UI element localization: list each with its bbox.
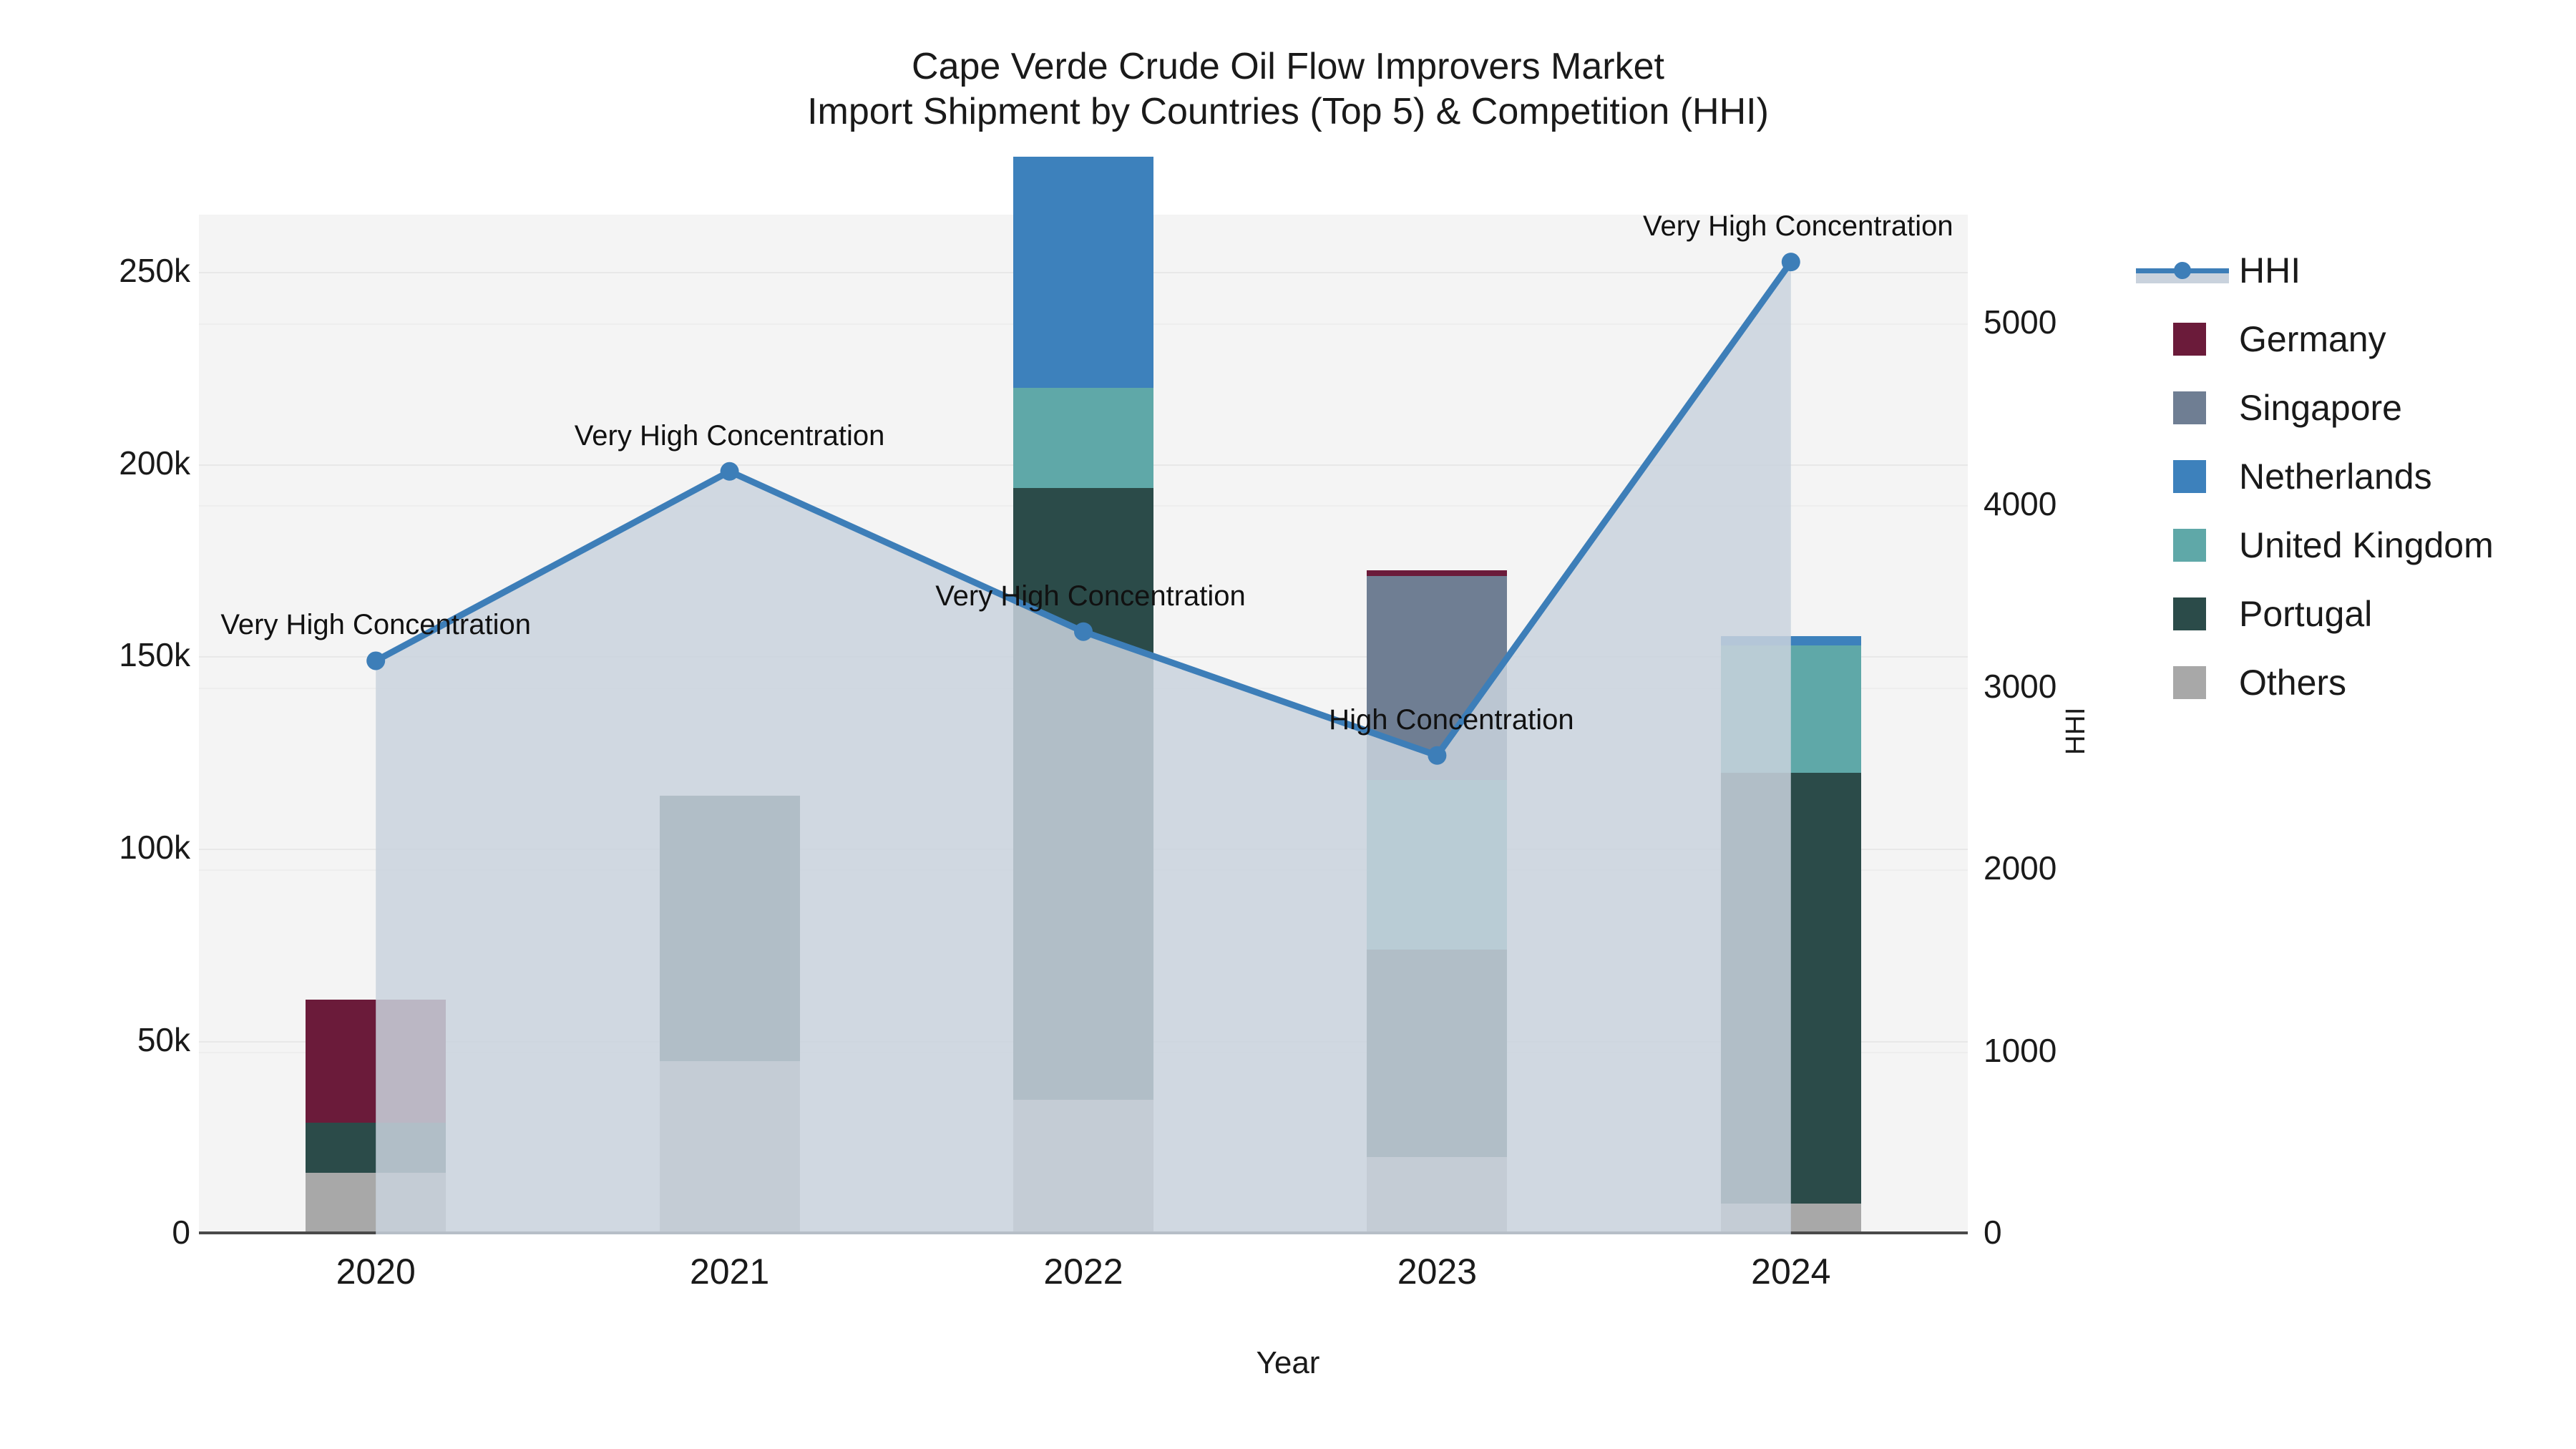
legend-label: Portugal (2239, 596, 2372, 632)
chart-title-block: Cape Verde Crude Oil Flow Improvers Mark… (0, 44, 2576, 135)
bar-segment[interactable] (1013, 157, 1153, 388)
legend-item-hhi[interactable]: HHI (2136, 236, 2565, 305)
bar-stack[interactable] (306, 215, 446, 1234)
hhi-annotation: Very High Concentration (575, 420, 885, 452)
legend-label: Germany (2239, 321, 2386, 357)
x-tick-label: 2021 (690, 1251, 769, 1292)
legend-swatch-icon (2173, 529, 2206, 562)
y-tick-label-left: 0 (11, 1213, 190, 1252)
bar-segment[interactable] (660, 796, 800, 1061)
bar-segment[interactable] (1367, 1157, 1507, 1234)
y-tick-label-left: 250k (11, 251, 190, 290)
bar-segment[interactable] (306, 1123, 446, 1173)
bar-segment[interactable] (1721, 645, 1861, 772)
chart-title: Cape Verde Crude Oil Flow Improvers Mark… (0, 44, 2576, 89)
bar-stack[interactable] (1721, 215, 1861, 1234)
y-tick-label-right: 2000 (1984, 849, 2127, 887)
bar-segment[interactable] (1013, 1100, 1153, 1234)
bar-stack[interactable] (660, 215, 800, 1234)
bar-segment[interactable] (1013, 388, 1153, 488)
legend-label: HHI (2239, 253, 2301, 288)
y-tick-label-left: 150k (11, 635, 190, 674)
chart-subtitle: Import Shipment by Countries (Top 5) & C… (0, 89, 2576, 135)
chart-root: Cape Verde Crude Oil Flow Improvers Mark… (0, 0, 2576, 1449)
y-axis-title-right: HHI (2061, 707, 2092, 755)
y-tick-label-right: 4000 (1984, 484, 2127, 523)
bar-segment[interactable] (1721, 773, 1861, 1204)
y-tick-label-right: 1000 (1984, 1031, 2127, 1070)
legend-item-germany[interactable]: Germany (2136, 305, 2565, 374)
bar-segment[interactable] (1721, 1204, 1861, 1234)
bar-segment[interactable] (306, 1173, 446, 1234)
legend-item-portugal[interactable]: Portugal (2136, 580, 2565, 648)
hhi-annotation: Very High Concentration (1643, 210, 1953, 243)
x-axis-title: Year (0, 1345, 2576, 1381)
legend-item-netherlands[interactable]: Netherlands (2136, 442, 2565, 511)
legend-swatch-icon (2173, 597, 2206, 630)
bar-segment[interactable] (1721, 636, 1861, 645)
legend-item-singapore[interactable]: Singapore (2136, 374, 2565, 442)
x-tick-label: 2020 (336, 1251, 416, 1292)
legend-item-others[interactable]: Others (2136, 648, 2565, 717)
bar-segment[interactable] (1367, 780, 1507, 950)
bar-segment[interactable] (1367, 950, 1507, 1157)
y-tick-label-right: 0 (1984, 1213, 2127, 1252)
y-tick-label-right: 3000 (1984, 667, 2127, 706)
y-tick-label-left: 100k (11, 828, 190, 867)
legend-swatch-icon (2173, 323, 2206, 356)
legend-swatch-icon (2173, 460, 2206, 493)
legend-label: United Kingdom (2239, 527, 2494, 563)
hhi-annotation: Very High Concentration (935, 580, 1246, 613)
bar-segment[interactable] (1367, 570, 1507, 576)
x-tick-label: 2022 (1043, 1251, 1123, 1292)
legend-line-icon (2136, 254, 2229, 287)
legend-swatch-icon (2173, 391, 2206, 424)
bar-segment[interactable] (306, 1000, 446, 1123)
x-tick-label: 2023 (1397, 1251, 1477, 1292)
x-tick-label: 2024 (1751, 1251, 1830, 1292)
bar-stack[interactable] (1013, 215, 1153, 1234)
bar-segment[interactable] (660, 1061, 800, 1234)
legend: HHIGermanySingaporeNetherlandsUnited Kin… (2136, 236, 2565, 717)
y-tick-label-right: 5000 (1984, 303, 2127, 341)
legend-label: Others (2239, 665, 2346, 701)
legend-item-united-kingdom[interactable]: United Kingdom (2136, 511, 2565, 580)
legend-label: Singapore (2239, 390, 2402, 426)
hhi-annotation: High Concentration (1329, 704, 1574, 736)
y-tick-label-left: 200k (11, 444, 190, 482)
hhi-annotation: Very High Concentration (220, 609, 531, 641)
y-tick-label-left: 50k (11, 1020, 190, 1059)
bar-segment[interactable] (1367, 576, 1507, 780)
legend-label: Netherlands (2239, 459, 2432, 494)
x-axis-baseline (199, 1231, 1968, 1234)
plot-area (199, 215, 1968, 1234)
legend-swatch-icon (2173, 666, 2206, 699)
